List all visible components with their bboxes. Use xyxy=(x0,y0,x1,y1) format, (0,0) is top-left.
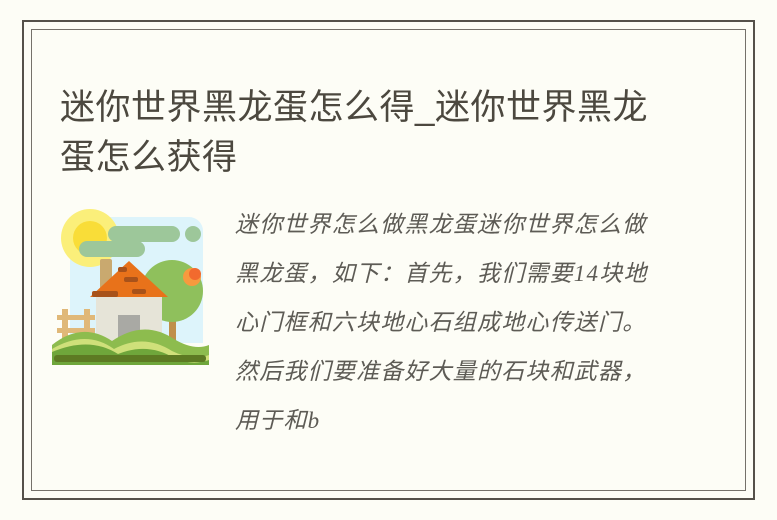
fence-rail-top-icon xyxy=(57,315,95,320)
article-thumbnail xyxy=(52,205,209,365)
house-landscape-illustration xyxy=(52,205,209,365)
page-root: 迷你世界黑龙蛋怎么得_迷你世界黑龙蛋怎么获得 xyxy=(0,0,777,520)
cloud-dot-icon xyxy=(185,226,201,242)
roof-tile-2-icon xyxy=(124,277,138,282)
article-body-text: 迷你世界怎么做黑龙蛋迷你世界怎么做黑龙蛋，如下：首先，我们需要14块地心门框和六… xyxy=(235,200,655,445)
cloud-upper-icon xyxy=(108,226,180,242)
cloud-lower-icon xyxy=(79,241,145,257)
article-frame-outer: 迷你世界黑龙蛋怎么得_迷你世界黑龙蛋怎么获得 xyxy=(22,20,755,500)
roof-tile-4-icon xyxy=(118,267,127,272)
roof-tile-1-icon xyxy=(92,291,118,297)
tree-fruit-right-shade-icon xyxy=(189,268,201,280)
page-title: 迷你世界黑龙蛋怎么得_迷你世界黑龙蛋怎么获得 xyxy=(60,83,680,183)
article-content-row: 迷你世界怎么做黑龙蛋迷你世界怎么做黑龙蛋，如下：首先，我们需要14块地心门框和六… xyxy=(52,200,733,445)
ground-strip-icon xyxy=(54,355,206,362)
roof-tile-3-icon xyxy=(132,289,146,294)
